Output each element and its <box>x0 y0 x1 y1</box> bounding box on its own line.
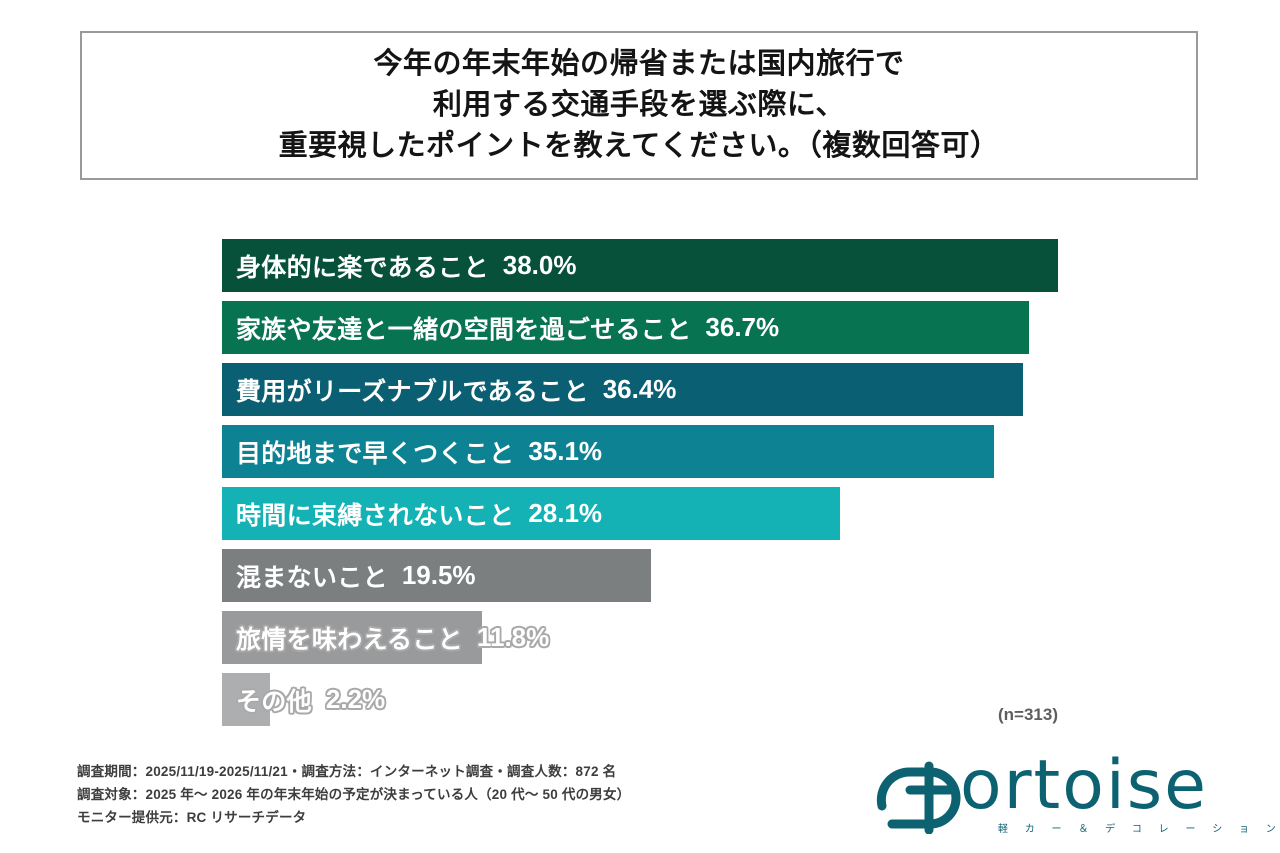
survey-target-line: 調査対象：2025 年〜 2026 年の年末年始の予定が決まっている人（20 代… <box>77 783 717 806</box>
bar-row: 家族や友達と一緒の空間を過ごせること 36.7% <box>222 301 1029 354</box>
bar-value-6: 11.8% <box>477 622 549 653</box>
brand-logo: ortoise 軽 カ ー ＆ デ コ レ ー シ ョ ン <box>872 758 1202 838</box>
bar-category-5: 混まないこと <box>236 558 388 594</box>
bar-chart: 身体的に楽であること 38.0% 家族や友達と一緒の空間を過ごせること 36.7… <box>0 0 1280 853</box>
bar-label-5: 混まないこと 19.5% <box>236 549 476 602</box>
bar-row: 時間に束縛されないこと 28.1% <box>222 487 840 540</box>
logo-subtitle: 軽 カ ー ＆ デ コ レ ー シ ョ ン <box>998 820 1280 835</box>
survey-metadata: 調査期間：2025/11/19-2025/11/21・調査方法：インターネット調… <box>77 760 717 830</box>
bar-category-4: 時間に束縛されないこと <box>236 496 514 532</box>
bar-label-0: 身体的に楽であること 38.0% <box>236 239 577 292</box>
bar-row: 費用がリーズナブルであること 36.4% <box>222 363 1023 416</box>
bar-label-3: 目的地まで早くつくこと 35.1% <box>236 425 602 478</box>
survey-period-line: 調査期間：2025/11/19-2025/11/21・調査方法：インターネット調… <box>77 760 717 783</box>
bar-label-2: 費用がリーズナブルであること 36.4% <box>236 363 676 416</box>
bar-row: 目的地まで早くつくこと 35.1% <box>222 425 994 478</box>
bar-row: その他 2.2% <box>222 673 270 726</box>
infographic-page: 今年の年末年始の帰省または国内旅行で 利用する交通手段を選ぶ際に、 重要視したポ… <box>0 0 1280 853</box>
bar-value-4: 28.1% <box>528 498 602 529</box>
bar-label-4: 時間に束縛されないこと 28.1% <box>236 487 602 540</box>
bar-value-7: 2.2% <box>326 684 385 715</box>
bar-row: 身体的に楽であること 38.0% <box>222 239 1058 292</box>
bar-category-1: 家族や友達と一緒の空間を過ごせること <box>236 310 691 346</box>
bar-category-3: 目的地まで早くつくこと <box>236 434 514 470</box>
bar-value-3: 35.1% <box>528 436 602 467</box>
bar-label-6: 旅情を味わえること 11.8% <box>236 611 549 664</box>
bar-category-7: その他 <box>236 682 312 718</box>
bar-value-0: 38.0% <box>503 250 577 281</box>
logo-wordmark: ortoise <box>960 752 1208 820</box>
sample-size-annotation: (n=313) <box>998 705 1058 725</box>
bar-row: 旅情を味わえること 11.8% <box>222 611 482 664</box>
bar-value-5: 19.5% <box>402 560 476 591</box>
bar-value-2: 36.4% <box>603 374 677 405</box>
bar-value-1: 36.7% <box>705 312 779 343</box>
monitor-provider-line: モニター提供元：RC リサーチデータ <box>77 806 717 829</box>
bar-category-6: 旅情を味わえること <box>236 620 463 656</box>
bar-label-1: 家族や友達と一緒の空間を過ごせること 36.7% <box>236 301 779 354</box>
bar-category-0: 身体的に楽であること <box>236 248 489 284</box>
bar-category-2: 費用がリーズナブルであること <box>236 372 589 408</box>
bar-row: 混まないこと 19.5% <box>222 549 651 602</box>
bar-label-7: その他 2.2% <box>236 673 385 726</box>
